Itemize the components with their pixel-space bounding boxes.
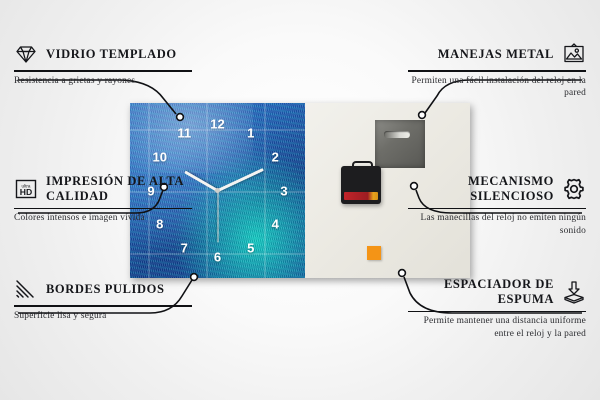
clock-numeral-2: 2 <box>272 151 279 164</box>
clock-numeral-6: 6 <box>214 251 221 264</box>
callout-bordes-pulidos: BORDES PULIDOS Superficie lisa y segura <box>14 277 192 322</box>
clock-center-cap <box>215 188 220 193</box>
clock-minute-hand <box>217 168 264 192</box>
callout-rule <box>408 208 586 210</box>
clock-numeral-3: 3 <box>280 184 287 197</box>
callout-impresion-alta-calidad: ultra HD IMPRESIÓN DE ALTA CALIDAD Color… <box>14 174 192 225</box>
callout-title: ESPACIADOR DE ESPUMA <box>408 277 554 307</box>
callout-rule <box>14 70 192 72</box>
foam-spacer-icon <box>562 280 586 304</box>
callout-subtitle: Permite mantener una distancia uniforme … <box>408 315 586 340</box>
clock-numeral-4: 4 <box>272 217 279 230</box>
clock-numeral-11: 11 <box>177 126 191 139</box>
infographic-canvas: 12 1 2 3 4 5 6 7 8 9 10 11 <box>0 0 600 400</box>
callout-title: BORDES PULIDOS <box>46 282 165 297</box>
callout-title: MECANISMO SILENCIOSO <box>408 174 554 204</box>
clock-numeral-7: 7 <box>181 242 188 255</box>
callout-rule <box>408 311 586 313</box>
battery <box>344 192 378 200</box>
svg-text:HD: HD <box>20 187 32 197</box>
clock-numeral-1: 1 <box>247 126 254 139</box>
hanger-slot <box>384 131 410 138</box>
clock-numeral-12: 12 <box>210 118 224 131</box>
clock-second-hand <box>217 191 218 243</box>
callout-rule <box>408 70 586 72</box>
clock-numeral-10: 10 <box>153 151 167 164</box>
clock-mechanism <box>341 166 381 204</box>
ultra-hd-icon: ultra HD <box>14 177 38 201</box>
mechanism-hook <box>352 161 373 169</box>
picture-hanger-icon <box>562 42 586 66</box>
callout-rule <box>14 208 192 210</box>
gear-icon <box>562 177 586 201</box>
callout-espaciador-espuma: ESPACIADOR DE ESPUMA Permite mantener un… <box>408 277 586 340</box>
callout-subtitle: Superficie lisa y segura <box>14 310 192 323</box>
metal-hanger-plate <box>375 120 425 168</box>
callout-vidrio-templado: VIDRIO TEMPLADO Resistencia a grietas y … <box>14 42 192 87</box>
callout-manejas-metal: MANEJAS METAL Permiten una fácil instala… <box>408 42 586 100</box>
callout-subtitle: Colores intensos e imagen vívida <box>14 212 192 225</box>
callout-title: MANEJAS METAL <box>438 47 554 62</box>
callout-title: VIDRIO TEMPLADO <box>46 47 177 62</box>
clock-numeral-5: 5 <box>247 242 254 255</box>
callout-subtitle: Las manecillas del reloj no emiten ningú… <box>408 212 586 237</box>
callout-subtitle: Resistencia a grietas y rayones <box>14 75 192 88</box>
diamond-icon <box>14 42 38 66</box>
callout-title: IMPRESIÓN DE ALTA CALIDAD <box>46 174 192 204</box>
foam-spacer <box>367 246 381 260</box>
callout-subtitle: Permiten una fácil instalación del reloj… <box>408 75 586 100</box>
callout-rule <box>14 305 192 307</box>
beveled-edge-icon <box>14 277 38 301</box>
callout-mecanismo-silencioso: MECANISMO SILENCIOSO Las manecillas del … <box>408 174 586 237</box>
